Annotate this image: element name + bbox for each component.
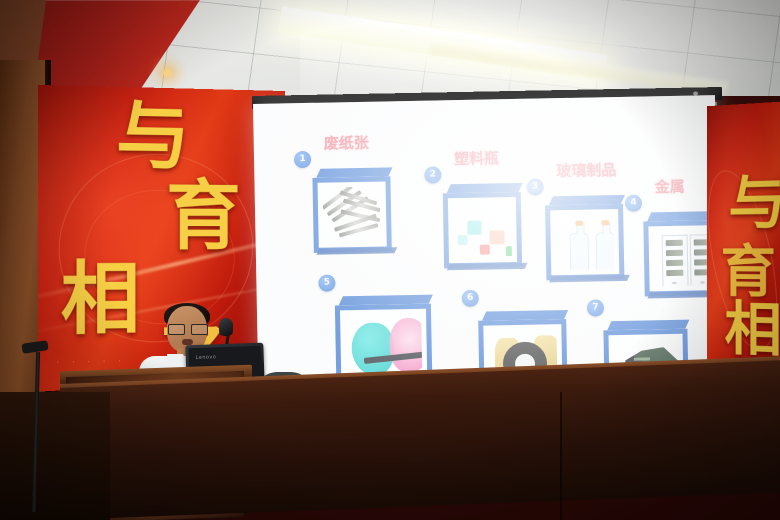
banner-right-char-2: 育 <box>721 244 776 301</box>
projection-screen: 1 废纸张 <box>253 95 721 399</box>
card-box <box>443 192 522 268</box>
eyeglasses-icon <box>168 324 206 333</box>
category-badge-5: 5 <box>318 274 335 291</box>
pink-fabric-icon <box>389 318 422 373</box>
plastic-square-red <box>480 244 490 254</box>
banner-left-char-1: 与 <box>116 99 190 174</box>
banner-left-char-2: 育 <box>166 178 241 254</box>
thumb-plastic-squares <box>453 202 512 258</box>
category-badge-4: 4 <box>625 195 642 212</box>
category-label-1: 废纸张 <box>324 132 369 154</box>
banner-right: 与 育 相 <box>707 102 780 399</box>
plastic-square-green <box>506 246 512 256</box>
microphone-icon <box>219 318 233 336</box>
category-badge-7: 7 <box>587 299 604 316</box>
head-table <box>60 360 780 520</box>
thumb-stacked-paper <box>323 187 382 243</box>
desk-left-dark-section <box>0 392 110 520</box>
category-label-3: 玻璃制品 <box>556 159 616 181</box>
glass-bottle-icon-1 <box>570 233 590 271</box>
category-badge-2: 2 <box>424 166 441 183</box>
banner-right-char-3: 相 <box>724 300 780 360</box>
downlight-icon <box>163 68 172 77</box>
slide-waste-sorting: 1 废纸张 <box>253 95 721 399</box>
speaker-mouth <box>182 339 193 345</box>
glass-bottle-icon-2 <box>596 232 615 270</box>
category-card-2 <box>443 183 523 268</box>
metal-column-icon-1 <box>662 235 689 287</box>
card-box <box>312 176 391 252</box>
thumb-metal-cans <box>654 230 713 286</box>
card-shadow <box>316 247 397 255</box>
category-badge-6: 6 <box>462 290 479 307</box>
category-badge-1: 1 <box>294 151 311 168</box>
category-card-3 <box>545 195 625 280</box>
plastic-square-cyan-small <box>458 235 468 245</box>
plastic-square-peach <box>489 230 504 244</box>
paper-stack-icon <box>323 187 382 243</box>
card-shadow <box>549 275 630 283</box>
category-label-2: 塑料瓶 <box>454 147 499 169</box>
card-box <box>545 204 624 280</box>
desk-panel-seam <box>560 392 562 520</box>
card-shadow <box>447 263 528 271</box>
thumb-fabric-bags <box>345 314 422 378</box>
banner-left-char-3: 相 <box>61 260 140 340</box>
plastic-square-cyan <box>467 221 481 235</box>
banner-right-char-1: 与 <box>728 173 780 232</box>
conference-hall-photo: 与 育 相 之 · · · · · 1 废纸张 <box>0 0 780 520</box>
category-card-1 <box>312 167 392 252</box>
laptop-brand-label: Lenovo <box>196 354 217 361</box>
category-label-4: 金属 <box>654 176 684 198</box>
thumb-glass-bottles <box>555 214 614 270</box>
teal-bag-icon <box>351 322 394 375</box>
category-badge-3: 3 <box>526 178 543 195</box>
banner-left-footer-text: · · · · · <box>56 357 125 368</box>
